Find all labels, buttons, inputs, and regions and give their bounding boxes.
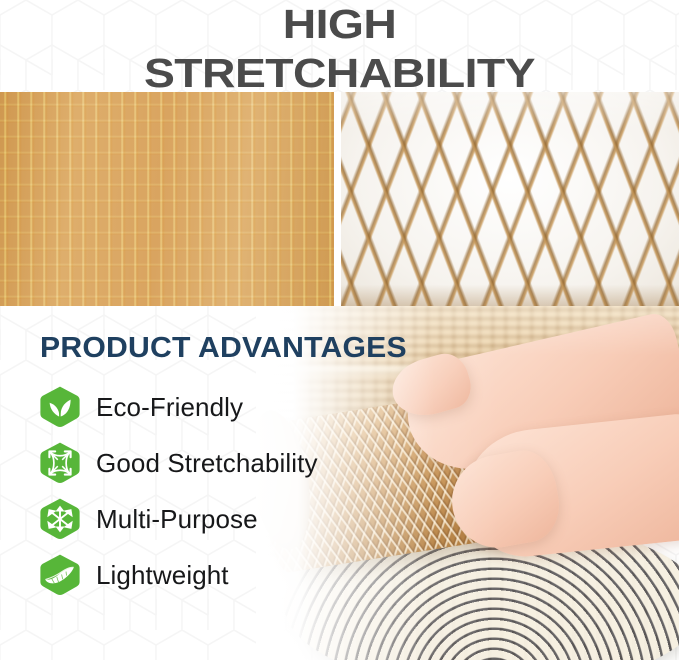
feather-icon bbox=[38, 553, 82, 597]
advantage-label: Lightweight bbox=[96, 560, 229, 591]
advantage-item-eco-friendly: Eco-Friendly bbox=[38, 379, 393, 435]
advantage-item-multi-purpose: Multi-Purpose bbox=[38, 491, 393, 547]
leaf-icon bbox=[38, 385, 82, 429]
panel-unstretched-kraft-paper bbox=[0, 92, 334, 306]
stretch-comparison-panels bbox=[0, 92, 679, 306]
product-advantages-title: PRODUCT ADVANTAGES bbox=[40, 332, 407, 365]
panel-stretched-honeycomb-mesh bbox=[341, 92, 679, 306]
headline-line-1: HIGH bbox=[0, 0, 679, 45]
headline-line-2: STRETCHABILITY bbox=[0, 45, 679, 94]
panel-divider bbox=[334, 92, 341, 306]
product-advantages-block: PRODUCT ADVANTAGES Eco-Friendly bbox=[38, 332, 393, 603]
advantage-label: Eco-Friendly bbox=[96, 392, 243, 423]
advantage-label: Good Stretchability bbox=[96, 448, 318, 479]
unstretched-kraft-texture bbox=[0, 92, 334, 306]
stretched-mesh-texture bbox=[341, 92, 679, 306]
advantages-list: Eco-Friendly Good Stretchability bbox=[38, 379, 393, 603]
stretch-arrows-icon bbox=[38, 441, 82, 485]
headline: HIGH STRETCHABILITY bbox=[0, 0, 679, 94]
advantage-label: Multi-Purpose bbox=[96, 504, 258, 535]
product-infographic: HIGH STRETCHABILITY PROD bbox=[0, 0, 679, 660]
advantage-item-good-stretchability: Good Stretchability bbox=[38, 435, 393, 491]
advantage-item-lightweight: Lightweight bbox=[38, 547, 393, 603]
multi-direction-arrows-icon bbox=[38, 497, 82, 541]
